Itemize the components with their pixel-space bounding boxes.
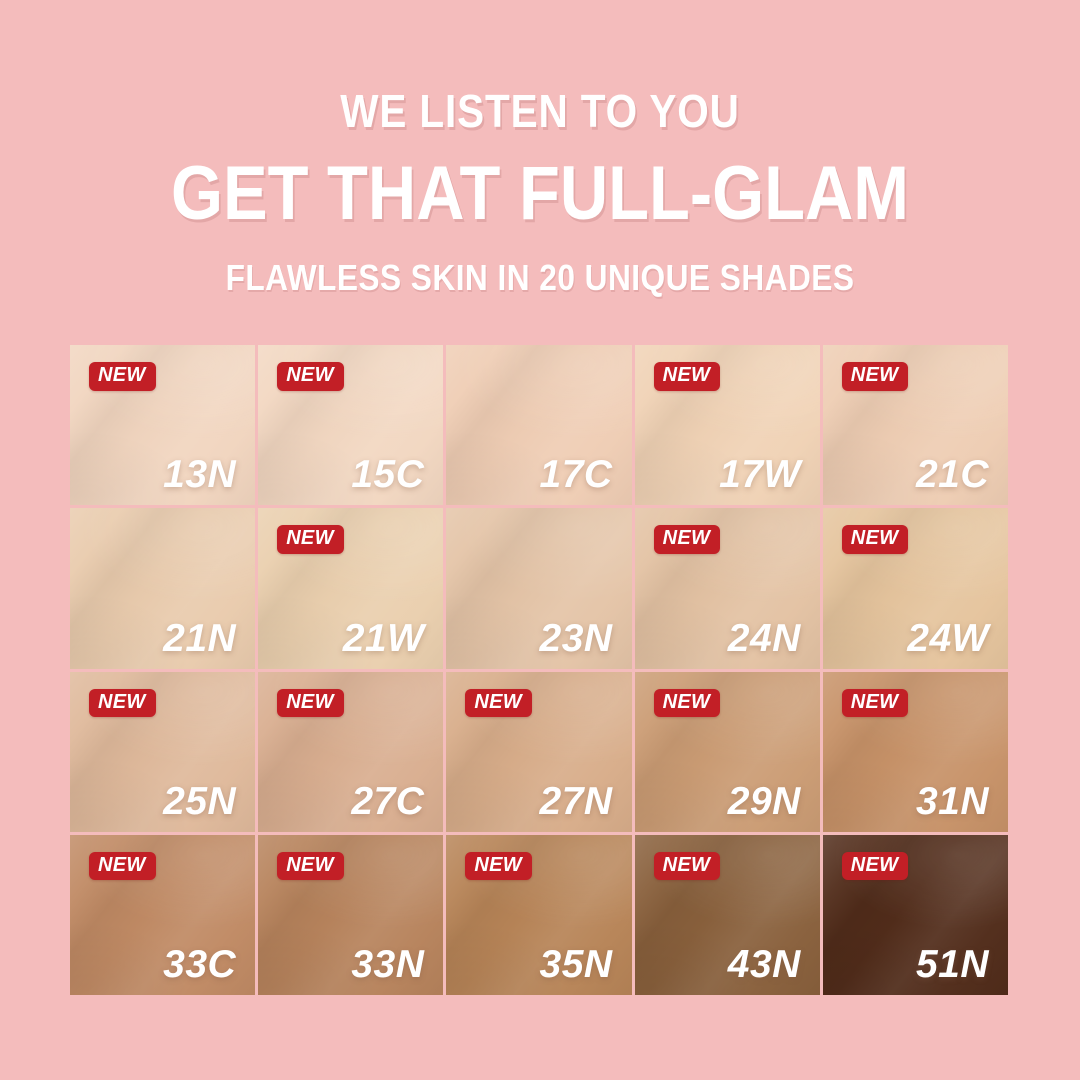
shade-swatch-17w[interactable]: NEW17W (635, 345, 820, 505)
shade-swatch-33n[interactable]: NEW33N (258, 835, 443, 995)
new-badge: NEW (842, 362, 909, 391)
shade-code-label: 35N (540, 945, 613, 984)
new-badge: NEW (654, 852, 721, 881)
shade-code-label: 33N (351, 945, 424, 984)
new-badge: NEW (654, 689, 721, 718)
shade-swatch-27c[interactable]: NEW27C (258, 672, 443, 832)
subline-text: FLAWLESS SKIN IN 20 UNIQUE SHADES (65, 260, 1015, 296)
new-badge: NEW (654, 362, 721, 391)
new-badge: NEW (277, 362, 344, 391)
shade-code-label: 21C (916, 455, 989, 494)
shade-swatch-51n[interactable]: NEW51N (823, 835, 1008, 995)
shade-code-label: 17W (719, 455, 801, 494)
shade-code-label: 33C (163, 945, 236, 984)
shade-swatch-27n[interactable]: NEW27N (446, 672, 631, 832)
shade-code-label: 43N (728, 945, 801, 984)
shade-code-label: 21W (343, 619, 425, 658)
shade-code-label: 31N (916, 782, 989, 821)
new-badge: NEW (654, 525, 721, 554)
new-badge: NEW (89, 689, 156, 718)
shade-swatch-13n[interactable]: NEW13N (70, 345, 255, 505)
headline-text: GET THAT FULL-GLAM (65, 156, 1015, 232)
new-badge: NEW (842, 525, 909, 554)
shade-code-label: 27C (351, 782, 424, 821)
shade-swatch-21w[interactable]: NEW21W (258, 508, 443, 668)
new-badge: NEW (842, 852, 909, 881)
shade-swatch-21n[interactable]: 21N (70, 508, 255, 668)
shade-swatch-33c[interactable]: NEW33C (70, 835, 255, 995)
shade-code-label: 23N (540, 619, 613, 658)
header-block: WE LISTEN TO YOU GET THAT FULL-GLAM FLAW… (0, 0, 1080, 296)
shade-swatch-29n[interactable]: NEW29N (635, 672, 820, 832)
new-badge: NEW (277, 525, 344, 554)
new-badge: NEW (277, 689, 344, 718)
shade-code-label: 29N (728, 782, 801, 821)
new-badge: NEW (89, 852, 156, 881)
shade-swatch-21c[interactable]: NEW21C (823, 345, 1008, 505)
shade-swatch-31n[interactable]: NEW31N (823, 672, 1008, 832)
shade-swatch-43n[interactable]: NEW43N (635, 835, 820, 995)
shade-swatch-24w[interactable]: NEW24W (823, 508, 1008, 668)
shade-code-label: 27N (540, 782, 613, 821)
shade-code-label: 24W (907, 619, 989, 658)
new-badge: NEW (277, 852, 344, 881)
shade-swatch-35n[interactable]: NEW35N (446, 835, 631, 995)
new-badge: NEW (842, 689, 909, 718)
shade-code-label: 25N (163, 782, 236, 821)
shade-code-label: 15C (351, 455, 424, 494)
new-badge: NEW (89, 362, 156, 391)
shade-code-label: 21N (163, 619, 236, 658)
shade-code-label: 24N (728, 619, 801, 658)
shade-code-label: 17C (540, 455, 613, 494)
shade-swatch-23n[interactable]: 23N (446, 508, 631, 668)
shade-grid: NEW13NNEW15C17CNEW17WNEW21C21NNEW21W23NN… (70, 345, 1008, 995)
shade-swatch-25n[interactable]: NEW25N (70, 672, 255, 832)
kicker-text: WE LISTEN TO YOU (65, 88, 1015, 134)
new-badge: NEW (465, 689, 532, 718)
shade-swatch-17c[interactable]: 17C (446, 345, 631, 505)
new-badge: NEW (465, 852, 532, 881)
shade-code-label: 13N (163, 455, 236, 494)
shade-code-label: 51N (916, 945, 989, 984)
shade-swatch-15c[interactable]: NEW15C (258, 345, 443, 505)
shade-swatch-24n[interactable]: NEW24N (635, 508, 820, 668)
